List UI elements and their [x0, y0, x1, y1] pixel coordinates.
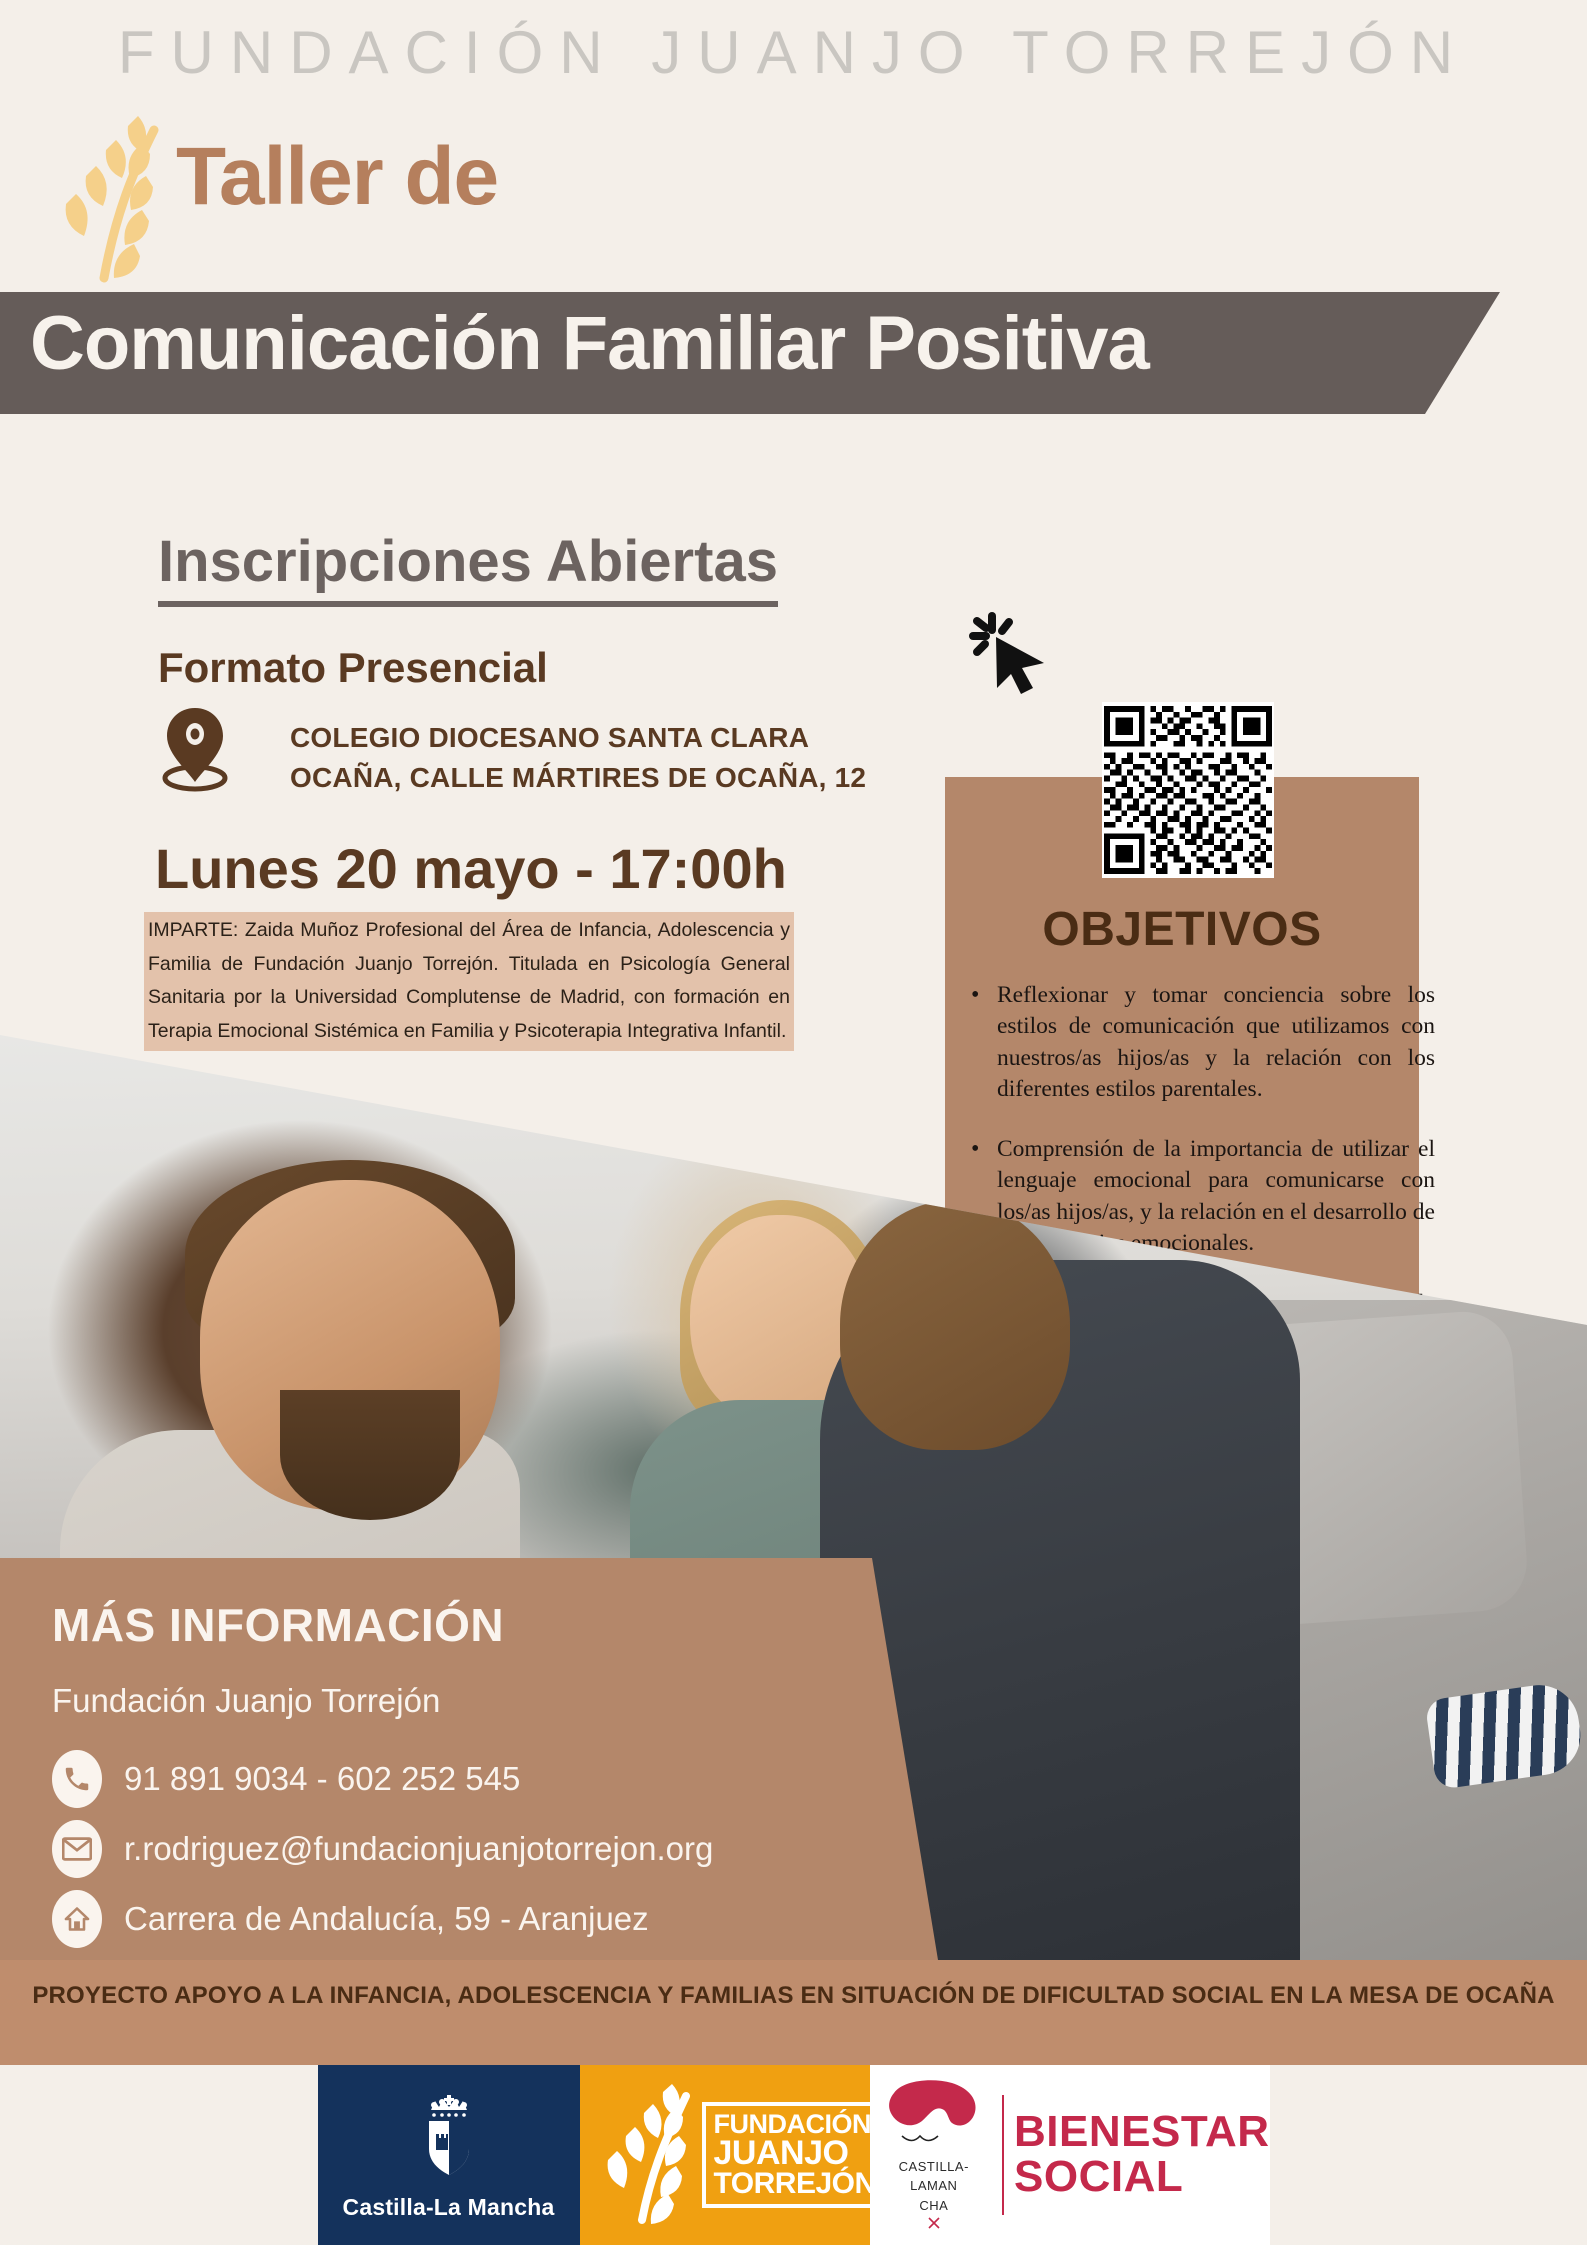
photo-man-beard — [280, 1390, 460, 1520]
jccm-line-1: CASTILLA- — [899, 2157, 969, 2177]
logo-row: Castilla-La Mancha — [0, 2065, 1587, 2245]
jccm-crescent-icon — [882, 2079, 986, 2157]
logo-clm-label: Castilla-La Mancha — [343, 2194, 555, 2221]
venue-line-2: OCAÑA, CALLE MÁRTIRES DE OCAÑA, 12 — [290, 758, 866, 798]
logo-fjt-namebox: FUNDACIÓN JUANJO TORREJÓN — [702, 2102, 888, 2208]
objective-item: Reflexionar y tomar conciencia sobre los… — [997, 980, 1435, 1106]
format-label: Formato Presencial — [158, 644, 548, 692]
clm-shield-icon — [415, 2090, 483, 2186]
project-strip — [0, 1960, 1587, 2065]
jccm-line-3: CHA — [919, 2196, 948, 2216]
pretitle: Taller de — [176, 130, 498, 224]
event-date: Lunes 20 mayo - 17:00h — [155, 836, 787, 901]
contact-address-row[interactable]: Carrera de Andalucía, 59 - Aranjuez — [52, 1890, 649, 1948]
contact-phone-row[interactable]: 91 891 9034 - 602 252 545 — [52, 1750, 520, 1808]
logo-fjt-line-3: TORREJÓN — [714, 2170, 876, 2198]
logo-bs-line-1: BIENESTAR — [1014, 2110, 1269, 2155]
project-strip-text: PROYECTO APOYO A LA INFANCIA, ADOLESCENC… — [0, 1982, 1587, 2010]
logo-divider — [1002, 2095, 1004, 2215]
organization-name: FUNDACIÓN JUANJO TORREJÓN — [0, 18, 1587, 87]
qr-code-icon[interactable] — [1102, 702, 1274, 878]
jccm-mark: CASTILLA- LAMAN CHA — [876, 2079, 993, 2232]
poster-canvas: FUNDACIÓN JUANJO TORREJÓN Taller de Comu… — [0, 0, 1587, 2245]
logo-fundacion-juanjo-torrejon: FUNDACIÓN JUANJO TORREJÓN — [580, 2065, 870, 2245]
presenter-note: IMPARTE: Zaida Muñoz Profesional del Áre… — [144, 912, 794, 1051]
jccm-line-2: LAMAN — [910, 2176, 957, 2196]
photo-child-head — [840, 1200, 1070, 1450]
venue-line-1: COLEGIO DIOCESANO SANTA CLARA — [290, 718, 866, 758]
objectives-title: OBJETIVOS — [945, 902, 1419, 957]
logo-fjt-line-2: JUANJO — [714, 2138, 849, 2170]
logo-bs-words: BIENESTAR SOCIAL — [1014, 2110, 1269, 2200]
logo-castilla-la-mancha: Castilla-La Mancha — [318, 2065, 580, 2245]
registration-heading: Inscripciones Abiertas — [158, 528, 778, 607]
phone-icon — [52, 1750, 102, 1808]
jccm-cross-icon — [926, 2215, 942, 2231]
logo-bs-line-2: SOCIAL — [1014, 2155, 1269, 2200]
logo-bienestar-social: CASTILLA- LAMAN CHA BIENESTAR SOCIAL — [870, 2065, 1270, 2245]
location-pin-icon — [155, 704, 235, 794]
contact-organization: Fundación Juanjo Torrejón — [52, 1682, 440, 1720]
contact-phone: 91 891 9034 - 602 252 545 — [124, 1760, 520, 1798]
envelope-icon — [52, 1820, 102, 1878]
venue-address: COLEGIO DIOCESANO SANTA CLARA OCAÑA, CAL… — [290, 718, 866, 798]
page-title: Comunicación Familiar Positiva — [30, 300, 1149, 387]
wheat-branch-icon — [588, 2078, 698, 2233]
wheat-branch-icon — [42, 100, 172, 290]
click-cursor-icon — [965, 608, 1053, 698]
contact-email-row[interactable]: r.rodriguez@fundacionjuanjotorrejon.org — [52, 1820, 713, 1878]
home-icon — [52, 1890, 102, 1948]
contact-email: r.rodriguez@fundacionjuanjotorrejon.org — [124, 1830, 713, 1868]
contact-address: Carrera de Andalucía, 59 - Aranjuez — [124, 1900, 649, 1938]
contact-title: MÁS INFORMACIÓN — [52, 1598, 504, 1652]
